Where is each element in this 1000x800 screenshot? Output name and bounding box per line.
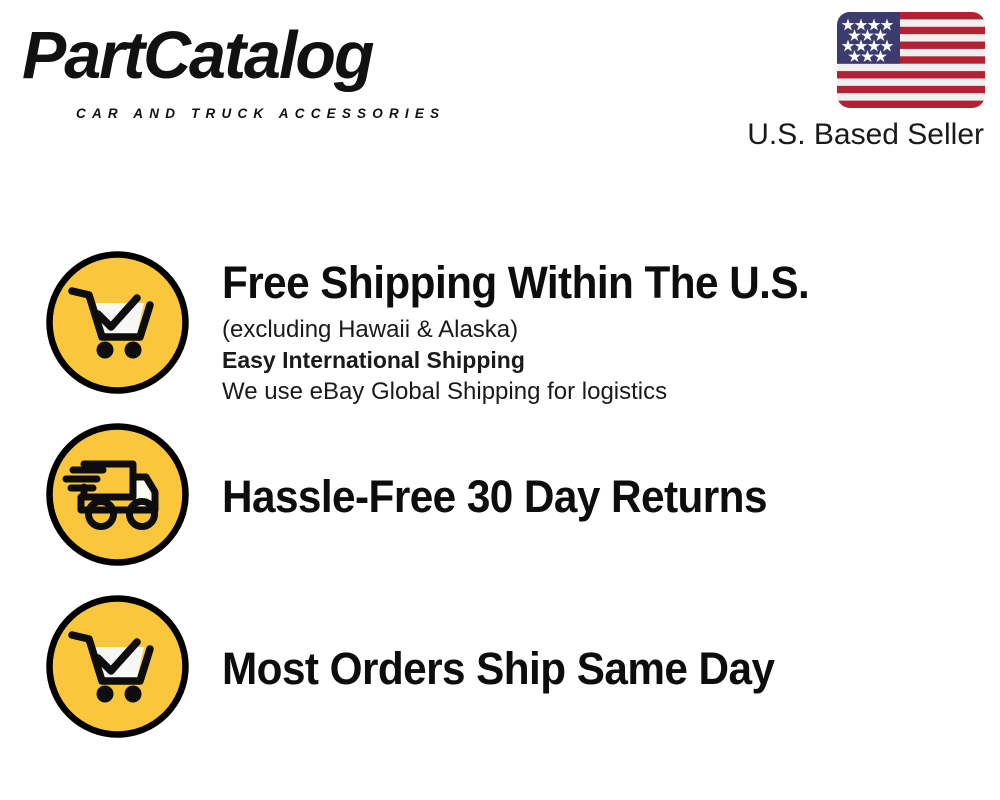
feature-row: Hassle-Free 30 Day Returns: [0, 422, 1000, 582]
feature-text-block: Hassle-Free 30 Day Returns: [222, 472, 962, 522]
brand-tagline-text: CAR AND TRUCK ACCESSORIES: [76, 106, 445, 121]
feature-subline: We use eBay Global Shipping for logistic…: [222, 376, 962, 407]
us-flag-icon: [837, 12, 985, 108]
feature-row: Most Orders Ship Same Day: [0, 594, 1000, 754]
brand-logo[interactable]: PartCatalog CAR AND TRUCK ACCESSORIES: [22, 18, 492, 113]
feature-subline-strong: Easy International Shipping: [222, 345, 962, 376]
shopping-cart-check-icon: [45, 594, 190, 739]
shopping-cart-check-icon: [45, 250, 190, 395]
page-header: PartCatalog CAR AND TRUCK ACCESSORIES: [0, 0, 1000, 175]
feature-heading: Free Shipping Within The U.S.: [222, 258, 918, 308]
delivery-truck-icon: [45, 422, 190, 567]
feature-heading: Most Orders Ship Same Day: [222, 644, 918, 694]
feature-subline: (excluding Hawaii & Alaska): [222, 314, 962, 345]
feature-heading: Hassle-Free 30 Day Returns: [222, 472, 918, 522]
feature-list: Free Shipping Within The U.S. (excluding…: [0, 175, 1000, 800]
feature-text-block: Most Orders Ship Same Day: [222, 644, 962, 694]
brand-wordmark-text: PartCatalog: [22, 18, 372, 94]
feature-text-block: Free Shipping Within The U.S. (excluding…: [222, 258, 962, 407]
feature-row: Free Shipping Within The U.S. (excluding…: [0, 250, 1000, 410]
us-based-seller-label: U.S. Based Seller: [747, 116, 984, 154]
